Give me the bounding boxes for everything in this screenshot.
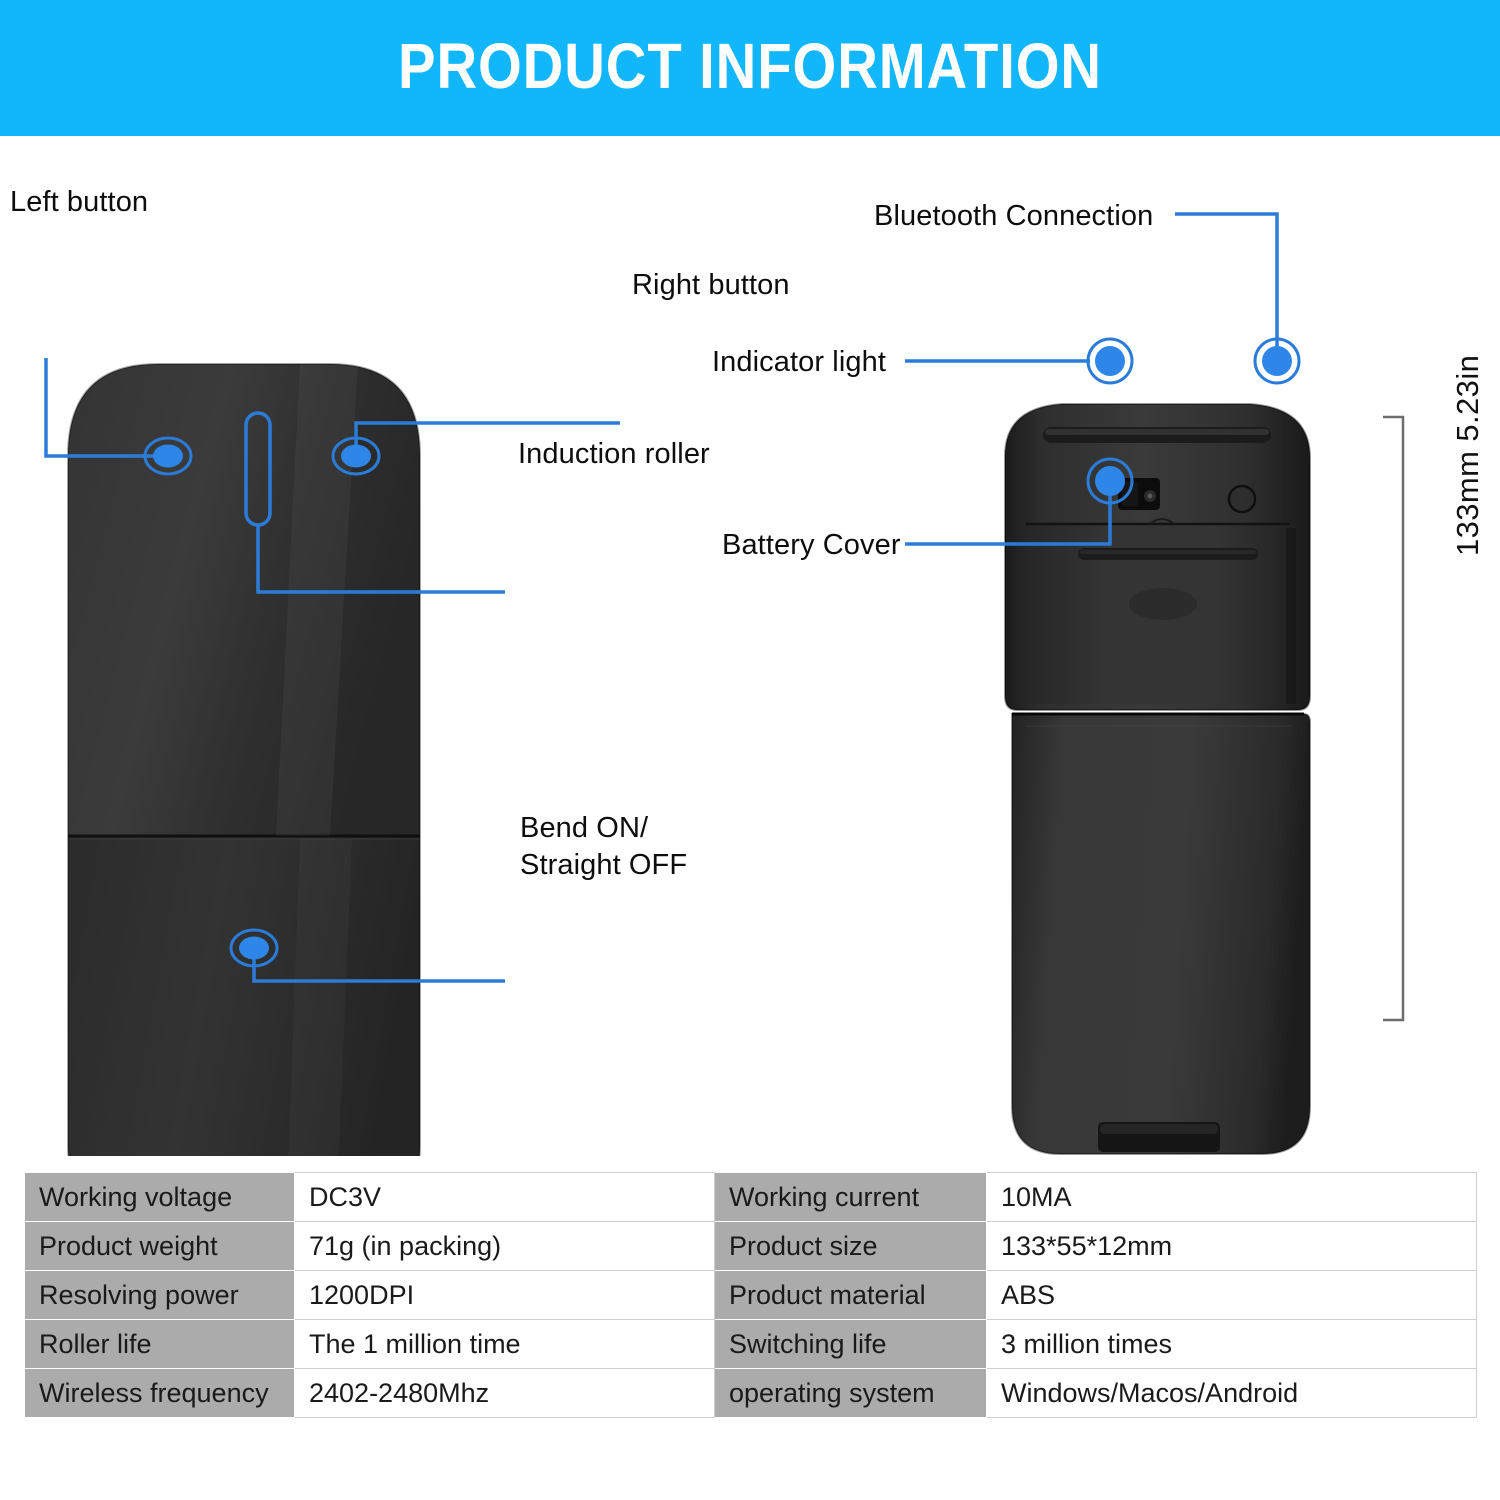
callout-dot-indicator-light <box>1088 339 1132 383</box>
spec-key: Working voltage <box>25 1173 295 1222</box>
spec-key: Resolving power <box>25 1271 295 1320</box>
header-banner: PRODUCT INFORMATION <box>0 0 1500 136</box>
product-diagram: Left button Right button Induction rolle… <box>0 136 1500 1156</box>
spec-value: 133*55*12mm <box>987 1222 1477 1271</box>
callout-label-bend-switch: Bend ON/ Straight OFF <box>520 810 750 884</box>
leader-bluetooth-connection <box>1175 214 1277 364</box>
bend-switch-line-2: Straight OFF <box>520 847 750 884</box>
bend-switch-line-1: Bend ON/ <box>520 810 750 847</box>
mouse-top-view-graphic <box>68 364 420 1156</box>
spec-value: 1200DPI <box>295 1271 715 1320</box>
specification-table-body: Working voltage DC3V Working current 10M… <box>25 1173 1477 1418</box>
callout-label-battery-cover: Battery Cover <box>722 527 901 564</box>
spec-value: DC3V <box>295 1173 715 1222</box>
spec-value: The 1 million time <box>295 1320 715 1369</box>
spec-value: 3 million times <box>987 1320 1477 1369</box>
callout-label-bluetooth-connection: Bluetooth Connection <box>874 198 1153 235</box>
spec-value: 10MA <box>987 1173 1477 1222</box>
callout-label-indicator-light: Indicator light <box>712 344 886 381</box>
table-row: Working voltage DC3V Working current 10M… <box>25 1173 1477 1222</box>
height-dimension-bracket <box>1383 417 1403 1020</box>
table-row: Product weight 71g (in packing) Product … <box>25 1222 1477 1271</box>
table-row: Wireless frequency 2402-2480Mhz operatin… <box>25 1369 1477 1418</box>
spec-key: Working current <box>715 1173 987 1222</box>
height-dimension-label: 133mm 5.23in <box>1450 355 1486 556</box>
spec-key: operating system <box>715 1369 987 1418</box>
callout-label-left-button: Left button <box>10 184 148 221</box>
spec-key: Wireless frequency <box>25 1369 295 1418</box>
specification-table-container: Working voltage DC3V Working current 10M… <box>24 1172 1476 1418</box>
spec-value: Windows/Macos/Android <box>987 1369 1477 1418</box>
page-title: PRODUCT INFORMATION <box>398 34 1102 102</box>
table-row: Roller life The 1 million time Switching… <box>25 1320 1477 1369</box>
spec-key: Product material <box>715 1271 987 1320</box>
callout-label-right-button: Right button <box>632 267 790 304</box>
spec-value: 2402-2480Mhz <box>295 1369 715 1418</box>
spec-key: Switching life <box>715 1320 987 1369</box>
spec-key: Product weight <box>25 1222 295 1271</box>
callout-label-induction-roller: Induction roller <box>518 436 710 473</box>
spec-key: Roller life <box>25 1320 295 1369</box>
spec-key: Product size <box>715 1222 987 1271</box>
table-row: Resolving power 1200DPI Product material… <box>25 1271 1477 1320</box>
specification-table: Working voltage DC3V Working current 10M… <box>24 1172 1477 1418</box>
mouse-bottom-view-graphic <box>1005 404 1310 1154</box>
spec-value: 71g (in packing) <box>295 1222 715 1271</box>
spec-value: ABS <box>987 1271 1477 1320</box>
